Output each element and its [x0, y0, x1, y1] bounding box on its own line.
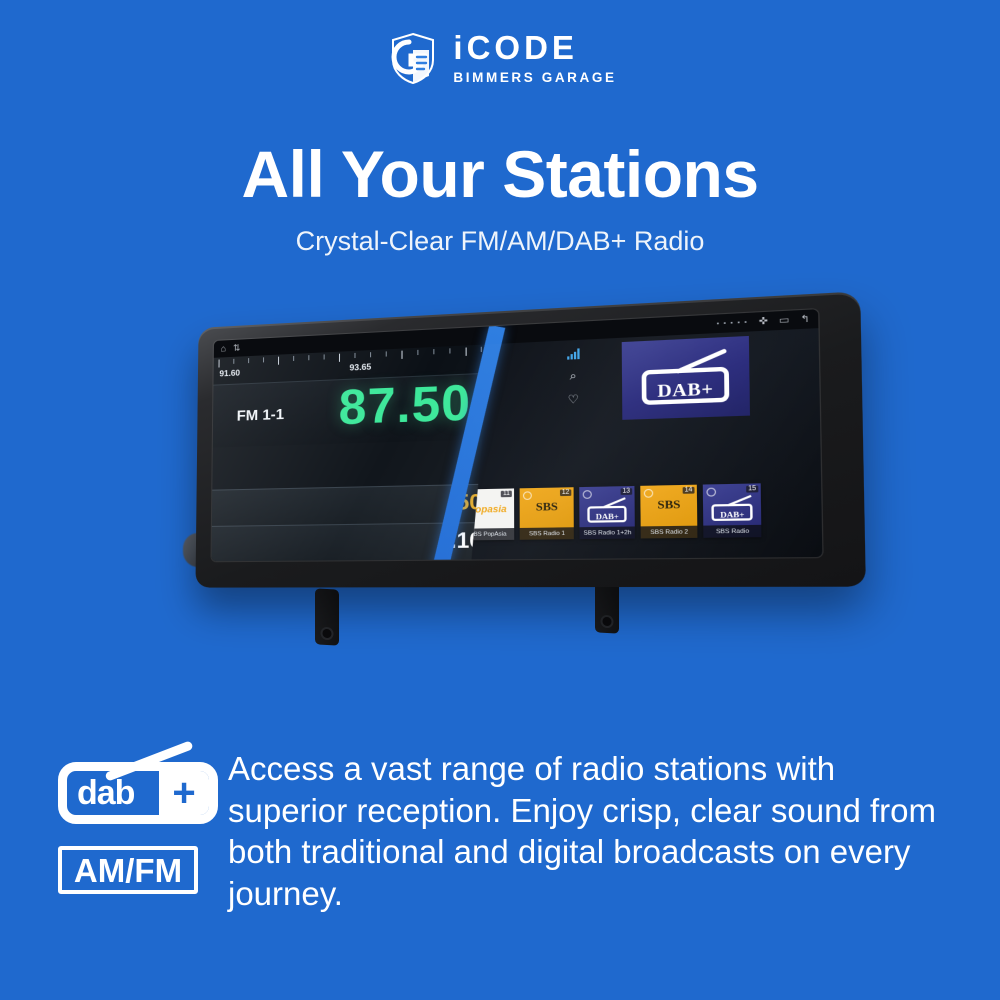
page-title: All Your Stations [0, 140, 1000, 209]
dab-hero-label: DAB+ [642, 378, 730, 403]
tile-status-dot [523, 491, 532, 500]
icode-shield-g-logo-icon [383, 30, 439, 86]
poster-canvas: iCODE BIMMERS GARAGE All Your Stations C… [0, 0, 1000, 1000]
current-frequency: 87.50 [339, 379, 472, 434]
tile-label: SBS PopAsia [471, 528, 514, 540]
dab-panel: ⌕ ♡ DAB+ [471, 328, 822, 559]
signal-bars-icon [567, 348, 579, 359]
dab-logo-word: dab [77, 776, 134, 810]
dab-logo-plus: + [159, 771, 209, 815]
tile-number: 11 [501, 491, 512, 498]
search-icon[interactable]: ⌕ [570, 371, 577, 383]
station-tile[interactable]: 14 SBS SBS Radio 2 [641, 485, 698, 539]
page-subtitle: Crystal-Clear FM/AM/DAB+ Radio [0, 225, 1000, 257]
tile-number: 12 [559, 489, 571, 496]
tile-label: SBS Radio 2 [641, 526, 698, 539]
bottom-section: dab + AM/FM Access a vast range of radio… [0, 720, 1000, 1000]
tile-label: SBS Radio 1 [520, 527, 574, 540]
station-tile-list: 11 popasia SBS PopAsia 12 SBS SBS Radio … [471, 483, 762, 540]
station-tile[interactable]: 13 DAB+ SBS Radio 1+2h [580, 486, 636, 539]
dab-plus-logo-icon: dab + [58, 740, 218, 824]
brand-tagline: BIMMERS GARAGE [453, 71, 616, 85]
dab-side-controls: ⌕ ♡ [561, 348, 586, 407]
dab-hero-artwork: DAB+ [622, 336, 750, 420]
device-screen: ⌂ ⇅ ▪ ▪ ▪ ▪ ▪ ✜ ▭ ↰ [211, 309, 822, 561]
tile-number: 13 [620, 488, 632, 495]
format-badges: dab + AM/FM [58, 740, 223, 894]
brand-name: iCODE [453, 31, 616, 64]
brand-text: iCODE BIMMERS GARAGE [453, 31, 616, 85]
band-label: FM 1-1 [237, 406, 285, 425]
tile-status-dot [707, 488, 717, 497]
mounting-bracket-left [315, 588, 339, 645]
body-paragraph: Access a vast range of radio stations wi… [228, 748, 950, 914]
scale-label: 93.65 [349, 361, 371, 375]
transfer-icon[interactable]: ⇅ [233, 344, 241, 353]
sbs-logo-icon: SBS [641, 498, 698, 512]
amfm-badge-label: AM/FM [74, 854, 182, 887]
status-indicator-dots: ▪ ▪ ▪ ▪ ▪ [716, 319, 748, 327]
tile-label: SBS Radio 1+2h [580, 526, 635, 539]
device-body: ⌂ ⇅ ▪ ▪ ▪ ▪ ▪ ✜ ▭ ↰ [195, 291, 865, 587]
dab-radio-icon: DAB+ [588, 499, 627, 523]
tile-label: SBS Radio [704, 525, 762, 538]
tile-status-dot [583, 490, 592, 499]
station-tile[interactable]: 15 DAB+ SBS Radio [703, 483, 762, 537]
head-unit-device: ⌂ ⇅ ▪ ▪ ▪ ▪ ▪ ✜ ▭ ↰ [175, 315, 835, 685]
tile-number: 14 [682, 487, 695, 494]
amfm-badge: AM/FM [58, 846, 198, 894]
sbs-logo-icon: SBS [520, 500, 574, 514]
station-tile[interactable]: 12 SBS SBS Radio 1 [520, 487, 574, 540]
tile-number: 15 [746, 486, 759, 493]
favorite-icon[interactable]: ♡ [568, 394, 579, 406]
tile-status-dot [644, 489, 653, 498]
dab-radio-icon: DAB+ [642, 351, 730, 405]
popasia-artwork-icon: popasia [471, 504, 509, 522]
settings-icon[interactable]: ✜ [759, 316, 768, 326]
screen-content: 91.60 93.65 95.70 97.75 99.80 FM 1-1 87.… [211, 328, 822, 561]
scale-label: 91.60 [219, 368, 240, 382]
statusbar-left-group: ⌂ ⇅ [221, 344, 241, 354]
back-icon[interactable]: ↰ [800, 314, 809, 324]
brand-logo: iCODE BIMMERS GARAGE [0, 30, 1000, 86]
statusbar-right-group: ▪ ▪ ▪ ▪ ▪ ✜ ▭ ↰ [716, 314, 809, 329]
dab-radio-icon: DAB+ [712, 497, 753, 521]
window-icon[interactable]: ▭ [779, 315, 790, 326]
station-tile[interactable]: 11 popasia SBS PopAsia [471, 488, 514, 540]
home-icon[interactable]: ⌂ [221, 344, 226, 353]
